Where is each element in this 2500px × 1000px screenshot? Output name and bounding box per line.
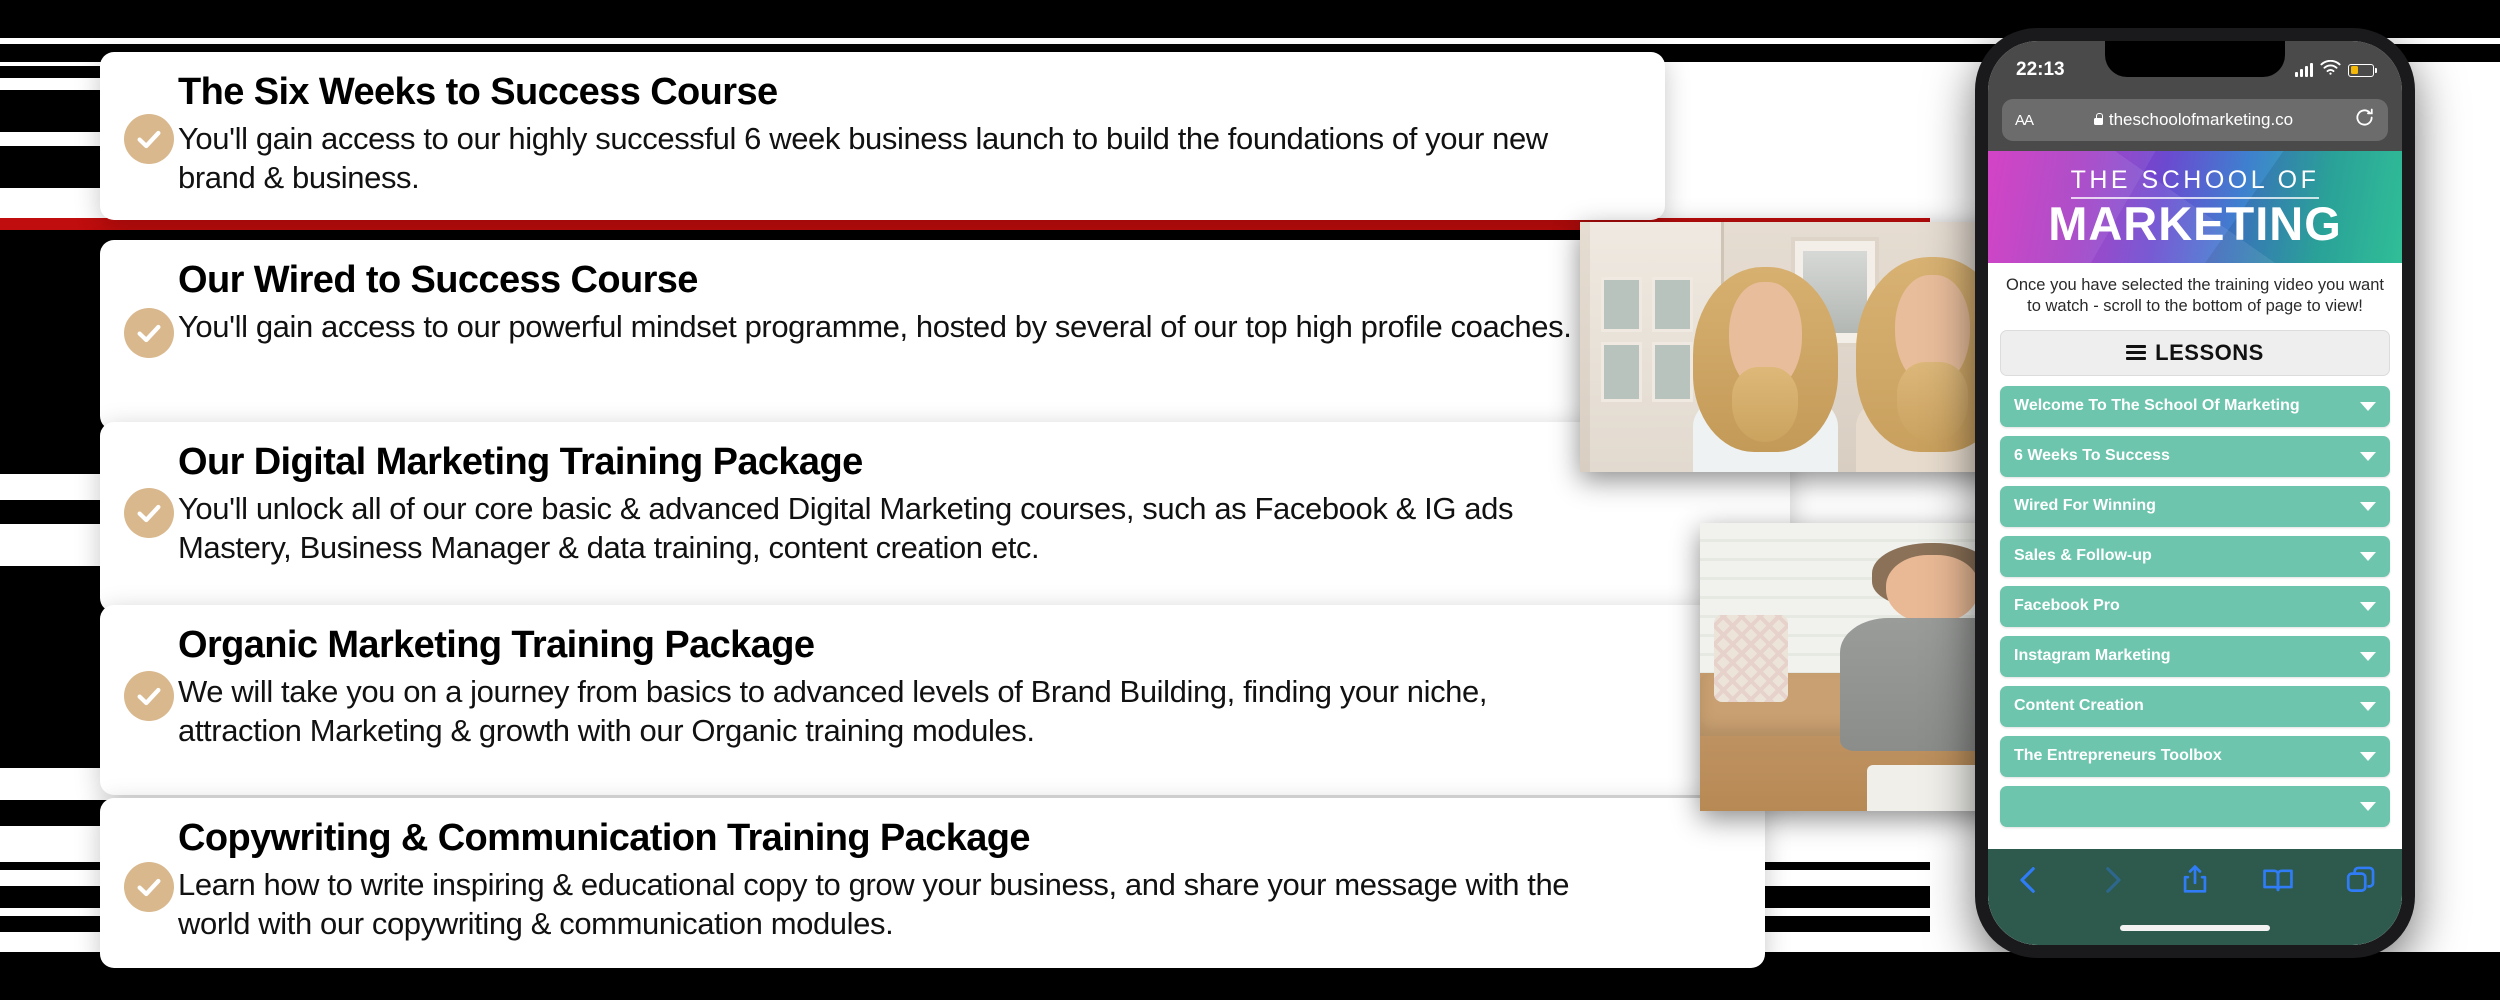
feature-description: You'll gain access to our powerful minds…	[178, 308, 1598, 347]
feature-description: We will take you on a journey from basic…	[178, 673, 1598, 751]
share-icon[interactable]	[2178, 863, 2212, 897]
lesson-item[interactable]: Instagram Marketing	[2000, 636, 2390, 677]
lesson-label: Welcome To The School Of Marketing	[2014, 397, 2300, 415]
feature-card[interactable]: Copywriting & Communication Training Pac…	[100, 798, 1765, 968]
feature-title: The Six Weeks to Success Course	[178, 72, 1639, 114]
feature-title: Our Digital Marketing Training Package	[178, 442, 1764, 484]
check-circle-icon	[124, 488, 174, 538]
lesson-item[interactable]: Facebook Pro	[2000, 586, 2390, 627]
feature-card[interactable]: Our Digital Marketing Training Package Y…	[100, 422, 1790, 612]
phone-screen: 22:13	[1988, 41, 2402, 945]
lesson-item[interactable]: The Entrepreneurs Toolbox	[2000, 736, 2390, 777]
chevron-down-icon	[2360, 602, 2376, 611]
lesson-label: Wired For Winning	[2014, 497, 2156, 515]
cellular-bars-icon	[2295, 63, 2313, 77]
lesson-label: Instagram Marketing	[2014, 647, 2170, 665]
check-circle-icon	[124, 308, 174, 358]
hamburger-menu-icon	[2126, 345, 2146, 360]
url-text: theschoolofmarketing.co	[2109, 110, 2293, 130]
page-notice: Once you have selected the training vide…	[1988, 263, 2402, 324]
tabs-icon[interactable]	[2344, 863, 2378, 897]
check-circle-icon	[124, 862, 174, 912]
back-icon[interactable]	[2012, 863, 2046, 897]
reload-icon[interactable]	[2354, 107, 2375, 133]
lesson-list: Welcome To The School Of Marketing 6 Wee…	[1988, 386, 2402, 827]
lesson-item[interactable]: Welcome To The School Of Marketing	[2000, 386, 2390, 427]
web-page-content: THE SCHOOL OF MARKETING Once you have se…	[1988, 151, 2402, 945]
lesson-item[interactable]: Wired For Winning	[2000, 486, 2390, 527]
chevron-down-icon	[2360, 802, 2376, 811]
feature-description: You'll unlock all of our core basic & ad…	[178, 490, 1598, 568]
chevron-down-icon	[2360, 452, 2376, 461]
chevron-down-icon	[2360, 552, 2376, 561]
lesson-label: The Entrepreneurs Toolbox	[2014, 747, 2222, 765]
address-bar[interactable]: AA theschoolofmarketing.co	[2002, 99, 2388, 141]
feature-title: Organic Marketing Training Package	[178, 625, 1764, 667]
feature-card[interactable]: Organic Marketing Training Package We wi…	[100, 605, 1790, 795]
chevron-down-icon	[2360, 402, 2376, 411]
screenshot-stage: The Six Weeks to Success Course You'll g…	[0, 0, 2500, 1000]
hero-line-2: MARKETING	[2048, 199, 2342, 248]
lessons-button-label: LESSONS	[2155, 340, 2264, 366]
lesson-item[interactable]: Content Creation	[2000, 686, 2390, 727]
feature-title: Our Wired to Success Course	[178, 260, 1639, 302]
forward-icon	[2095, 863, 2129, 897]
chevron-down-icon	[2360, 752, 2376, 761]
bookmarks-icon[interactable]	[2261, 863, 2295, 897]
iphone-mockup: 22:13	[1975, 28, 2415, 958]
safari-toolbar	[1988, 849, 2402, 945]
check-circle-icon	[124, 671, 174, 721]
lesson-label: Sales & Follow-up	[2014, 547, 2152, 565]
home-indicator	[2120, 925, 2270, 931]
check-circle-icon	[124, 114, 174, 164]
text-size-button[interactable]: AA	[2015, 112, 2033, 129]
site-hero-banner: THE SCHOOL OF MARKETING	[1988, 151, 2402, 263]
lesson-item[interactable]: Sales & Follow-up	[2000, 536, 2390, 577]
lock-icon	[2094, 118, 2103, 125]
feature-card[interactable]: The Six Weeks to Success Course You'll g…	[100, 52, 1665, 220]
lesson-item[interactable]: 6 Weeks To Success	[2000, 436, 2390, 477]
browser-chrome: AA theschoolofmarketing.co	[1988, 99, 2402, 151]
status-time: 22:13	[2016, 59, 2065, 81]
battery-low-icon	[2348, 64, 2374, 77]
feature-description: Learn how to write inspiring & education…	[178, 866, 1598, 944]
chevron-down-icon	[2360, 652, 2376, 661]
notch	[2105, 41, 2285, 77]
feature-card[interactable]: Our Wired to Success Course You'll gain …	[100, 240, 1665, 430]
wifi-icon	[2320, 59, 2341, 81]
lesson-label: Facebook Pro	[2014, 597, 2120, 615]
lesson-label: Content Creation	[2014, 697, 2144, 715]
lessons-button[interactable]: LESSONS	[2000, 330, 2390, 376]
lesson-label: 6 Weeks To Success	[2014, 447, 2170, 465]
feature-description: You'll gain access to our highly success…	[178, 120, 1598, 198]
chevron-down-icon	[2360, 502, 2376, 511]
lesson-item[interactable]	[2000, 786, 2390, 827]
feature-title: Copywriting & Communication Training Pac…	[178, 818, 1739, 860]
chevron-down-icon	[2360, 702, 2376, 711]
hero-line-1: THE SCHOOL OF	[2071, 166, 2320, 199]
